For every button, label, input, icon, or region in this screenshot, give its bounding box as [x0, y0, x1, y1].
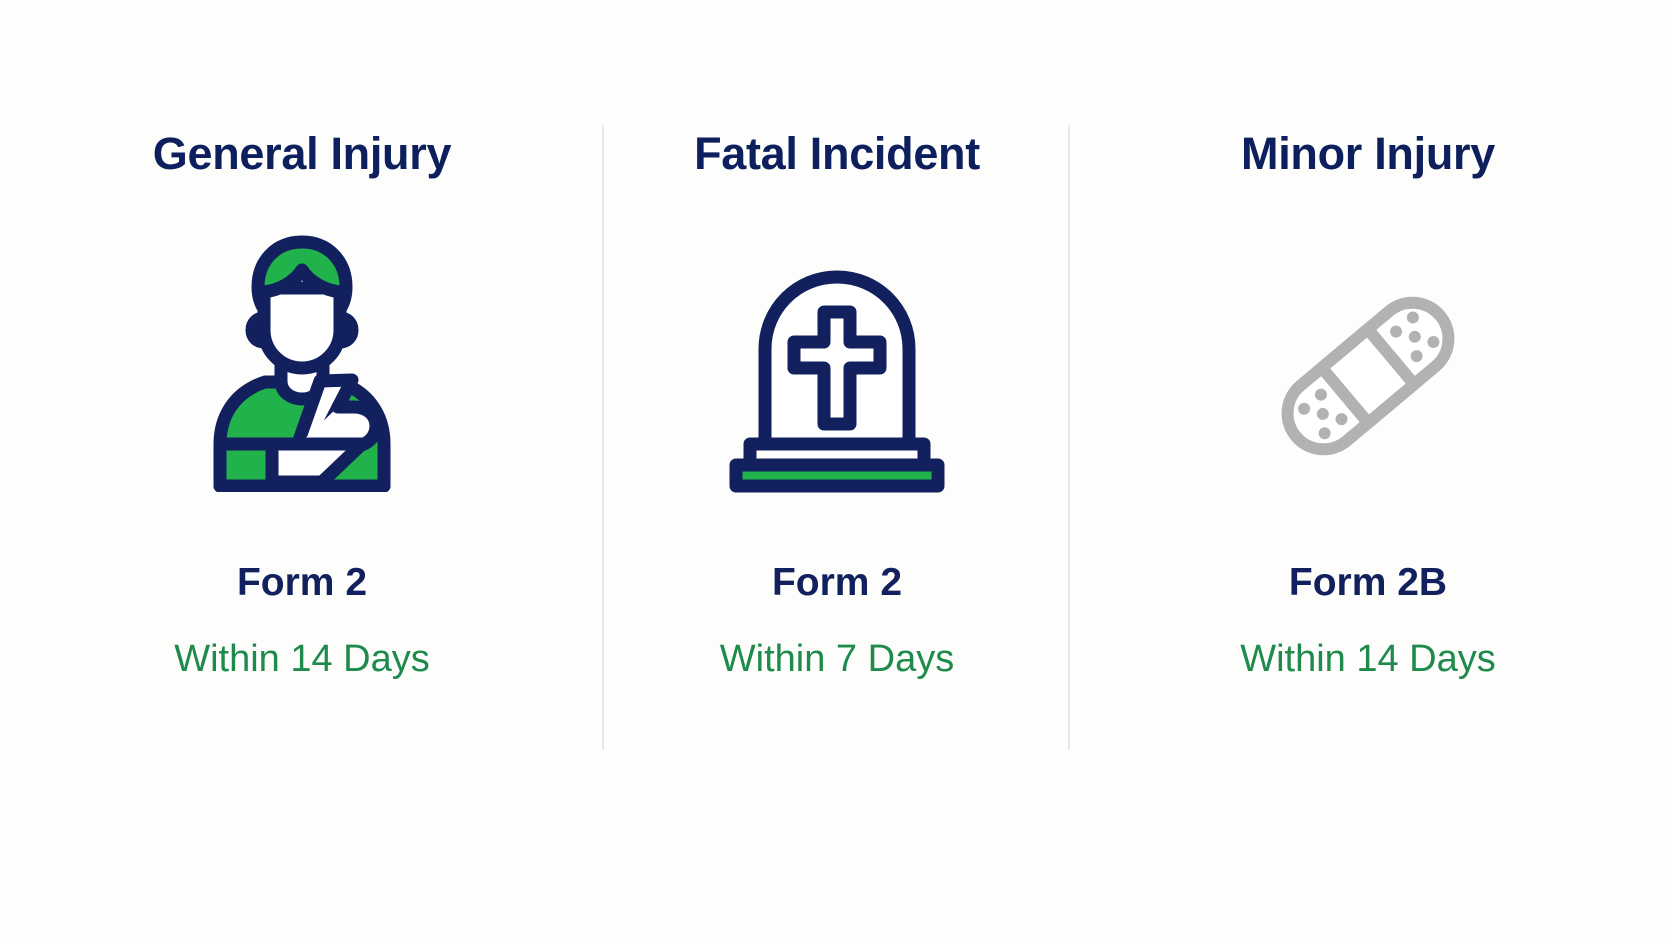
column-minor-injury: Minor Injury [1070, 0, 1666, 937]
deadline-general-injury: Within 14 Days [174, 640, 430, 678]
injured-person-arm-sling-icon [202, 231, 402, 491]
column-general-injury: General Injury [0, 0, 604, 937]
column-heading-fatal-incident: Fatal Incident [694, 131, 980, 176]
form-label-fatal-incident: Form 2 [772, 563, 902, 602]
column-heading-general-injury: General Injury [153, 131, 451, 176]
infographic-board: General Injury [0, 0, 1666, 937]
column-fatal-incident: Fatal Incident Form 2 Within 7 [604, 0, 1070, 937]
columns-container: General Injury [0, 0, 1666, 937]
deadline-fatal-incident: Within 7 Days [720, 640, 954, 678]
column-heading-minor-injury: Minor Injury [1241, 131, 1495, 176]
form-label-minor-injury: Form 2B [1289, 563, 1447, 602]
deadline-minor-injury: Within 14 Days [1240, 640, 1496, 678]
adhesive-bandage-icon [1258, 246, 1478, 506]
gravestone-cross-icon [724, 246, 950, 506]
form-label-general-injury: Form 2 [237, 563, 367, 602]
